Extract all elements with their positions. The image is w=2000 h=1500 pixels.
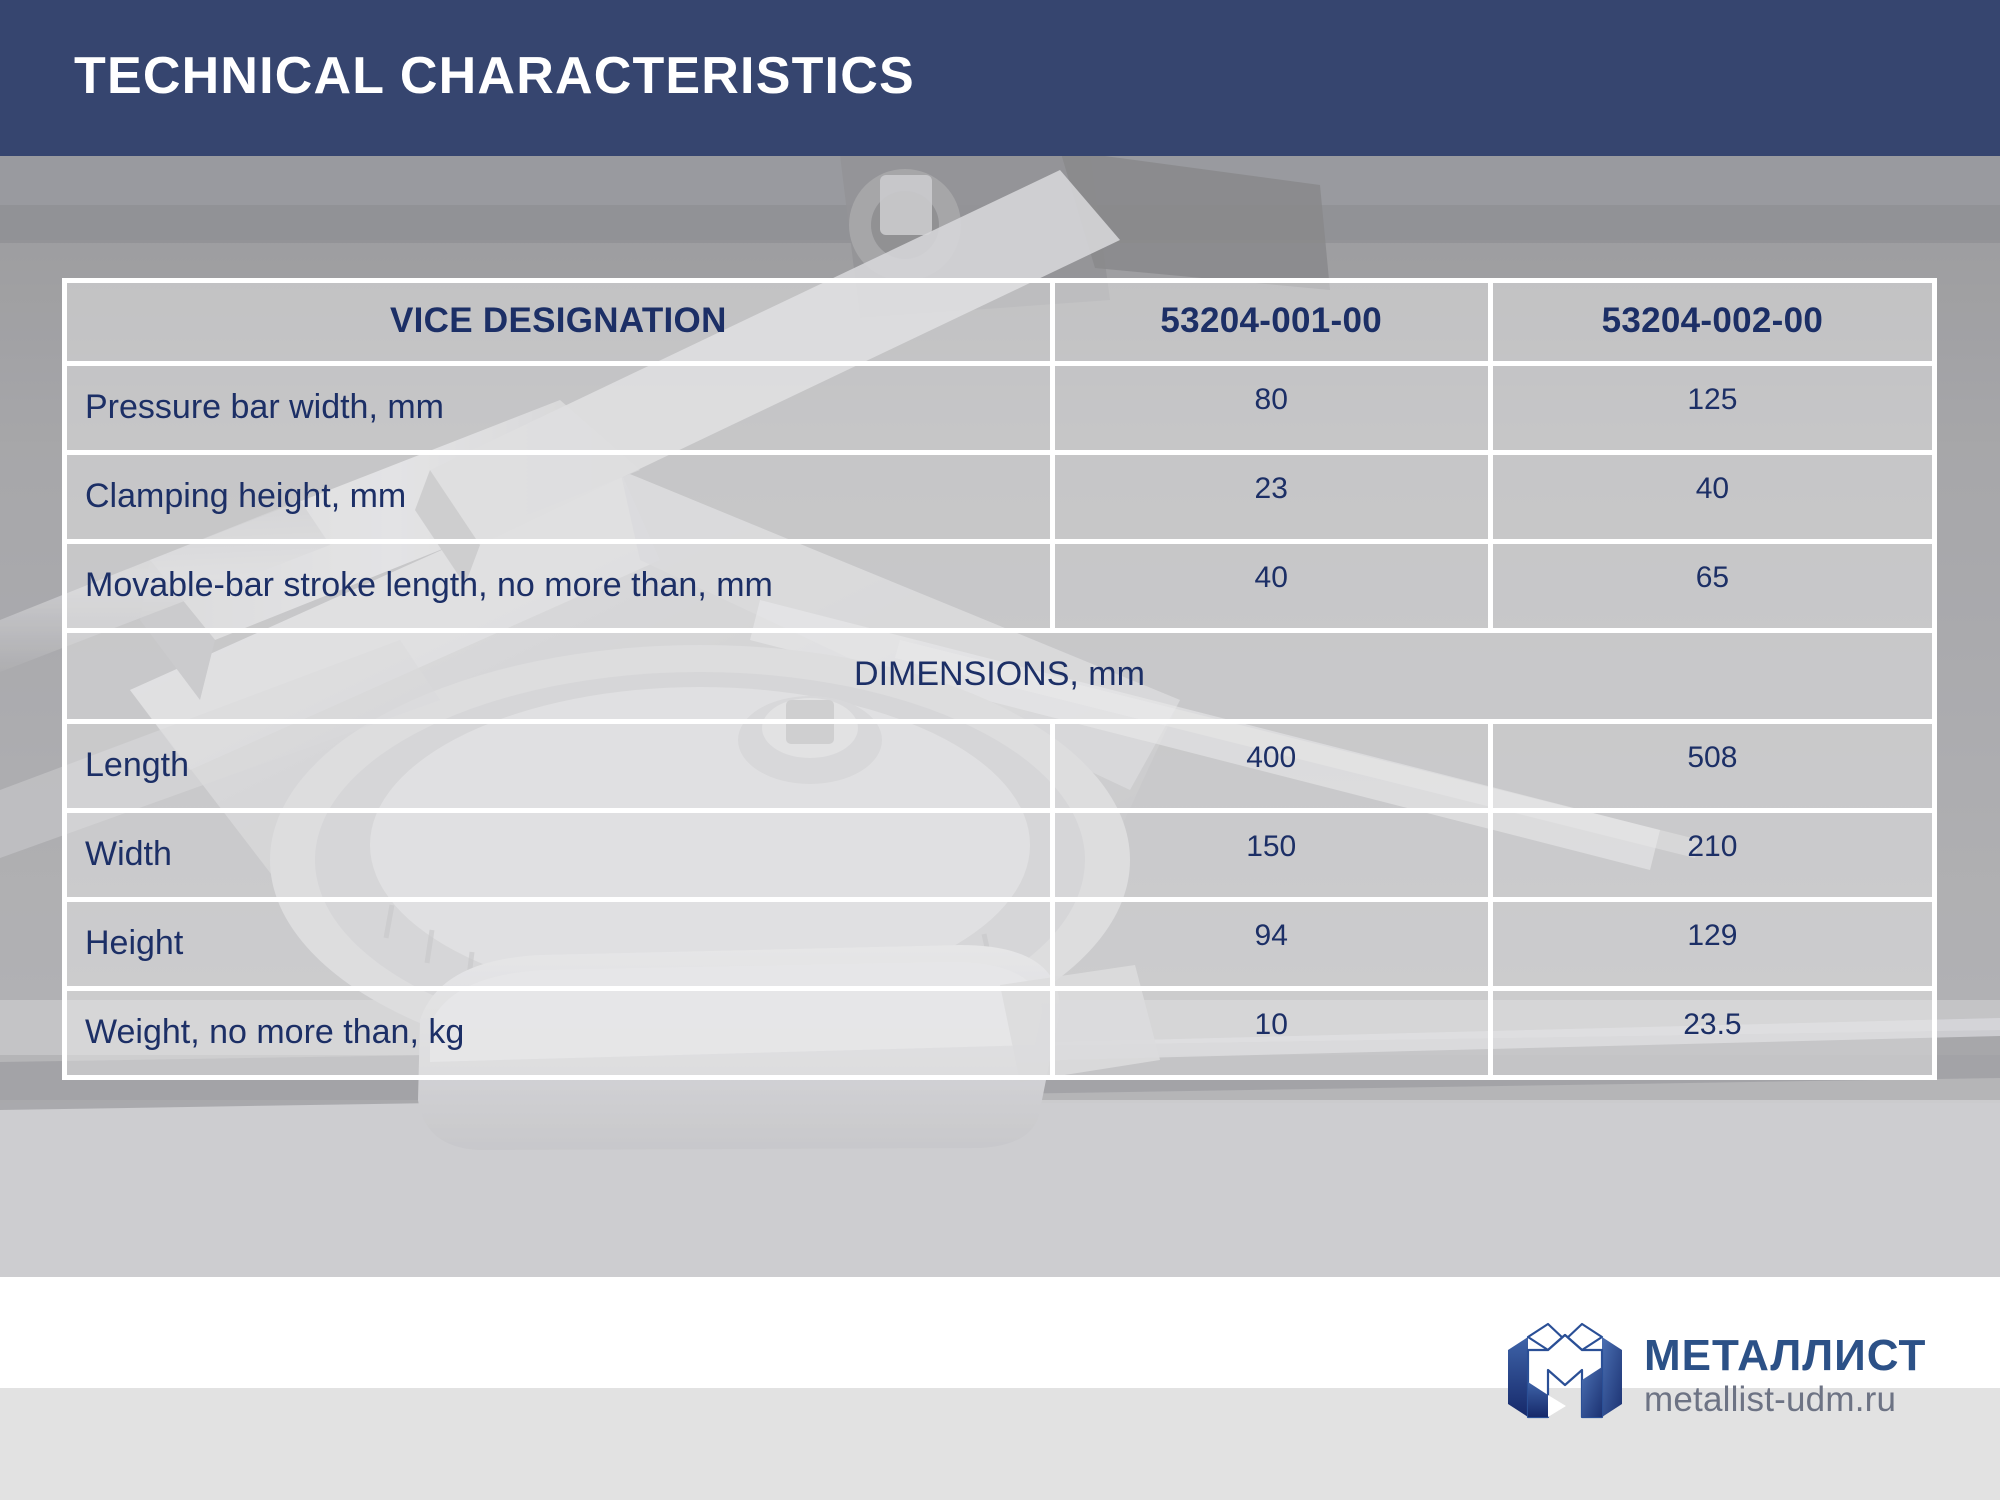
- logo-company-name: МЕТАЛЛИСТ: [1644, 1333, 1926, 1378]
- row-label-cell: Pressure bar width, mm: [62, 366, 1055, 455]
- company-logo[interactable]: МЕТАЛЛИСТ metallist-udm.ru: [1506, 1317, 1946, 1435]
- table-row: Clamping height, mm 23 40: [62, 455, 1937, 544]
- table-section-row: DIMENSIONS, mm: [62, 633, 1937, 724]
- technical-characteristics-table: VICE DESIGNATION 53204-001-00 53204-002-…: [62, 278, 1937, 1080]
- logo-text-block: МЕТАЛЛИСТ metallist-udm.ru: [1644, 1333, 1926, 1420]
- row-value-cell-model-1: 94: [1055, 902, 1493, 991]
- row-label: Clamping height, mm: [67, 455, 1050, 516]
- section-label: DIMENSIONS, mm: [67, 633, 1932, 694]
- table-row: Movable-bar stroke length, no more than,…: [62, 544, 1937, 633]
- row-value-cell-model-1: 23: [1055, 455, 1493, 544]
- row-label-cell: Length: [62, 724, 1055, 813]
- table-row: Height 94 129: [62, 902, 1937, 991]
- table-header-row: VICE DESIGNATION 53204-001-00 53204-002-…: [62, 278, 1937, 366]
- row-value-cell-model-2: 40: [1493, 455, 1937, 544]
- row-value-cell-model-1: 80: [1055, 366, 1493, 455]
- row-value-cell-model-1: 10: [1055, 991, 1493, 1080]
- table-row: Pressure bar width, mm 80 125: [62, 366, 1937, 455]
- header-cell-designation: VICE DESIGNATION: [62, 278, 1055, 366]
- row-value-cell-model-1: 400: [1055, 724, 1493, 813]
- row-label-cell: Weight, no more than, kg: [62, 991, 1055, 1080]
- row-label-cell: Width: [62, 813, 1055, 902]
- row-value-cell-model-2: 125: [1493, 366, 1937, 455]
- logo-website-url[interactable]: metallist-udm.ru: [1644, 1381, 1926, 1420]
- slide-canvas: TECHNICAL CHARACTERISTICS VICE DESIGNATI…: [0, 0, 2000, 1500]
- table-row: Weight, no more than, kg 10 23.5: [62, 991, 1937, 1080]
- row-value-cell-model-2: 23.5: [1493, 991, 1937, 1080]
- header-model-1-label: 53204-001-00: [1055, 283, 1488, 341]
- row-label-cell: Height: [62, 902, 1055, 991]
- row-value: 10: [1055, 991, 1488, 1042]
- header-cell-model-1: 53204-001-00: [1055, 278, 1493, 366]
- row-value: 94: [1055, 902, 1488, 953]
- page-title: TECHNICAL CHARACTERISTICS: [74, 46, 915, 106]
- row-value: 65: [1493, 544, 1932, 595]
- row-value-cell-model-1: 40: [1055, 544, 1493, 633]
- row-value: 508: [1493, 724, 1932, 775]
- header-designation-label: VICE DESIGNATION: [67, 283, 1050, 341]
- title-band: TECHNICAL CHARACTERISTICS: [0, 0, 2000, 156]
- row-label: Weight, no more than, kg: [67, 991, 1050, 1052]
- row-value-cell-model-2: 65: [1493, 544, 1937, 633]
- row-value-cell-model-2: 210: [1493, 813, 1937, 902]
- row-label: Pressure bar width, mm: [67, 366, 1050, 427]
- row-value: 40: [1055, 544, 1488, 595]
- row-value: 80: [1055, 366, 1488, 417]
- row-value: 400: [1055, 724, 1488, 775]
- row-label: Width: [67, 813, 1050, 874]
- metallist-cube-logo-icon: [1506, 1320, 1624, 1432]
- row-label-cell: Clamping height, mm: [62, 455, 1055, 544]
- row-value: 23.5: [1493, 991, 1932, 1042]
- header-cell-model-2: 53204-002-00: [1493, 278, 1937, 366]
- row-value-cell-model-2: 129: [1493, 902, 1937, 991]
- header-model-2-label: 53204-002-00: [1493, 283, 1932, 341]
- row-value: 210: [1493, 813, 1932, 864]
- section-cell-dimensions: DIMENSIONS, mm: [62, 633, 1937, 724]
- table-row: Length 400 508: [62, 724, 1937, 813]
- row-value-cell-model-2: 508: [1493, 724, 1937, 813]
- row-label: Length: [67, 724, 1050, 785]
- row-label: Movable-bar stroke length, no more than,…: [67, 544, 1050, 605]
- row-value: 150: [1055, 813, 1488, 864]
- table-row: Width 150 210: [62, 813, 1937, 902]
- row-label-cell: Movable-bar stroke length, no more than,…: [62, 544, 1055, 633]
- row-value: 125: [1493, 366, 1932, 417]
- row-value: 129: [1493, 902, 1932, 953]
- row-value: 40: [1493, 455, 1932, 506]
- row-value: 23: [1055, 455, 1488, 506]
- row-value-cell-model-1: 150: [1055, 813, 1493, 902]
- row-label: Height: [67, 902, 1050, 963]
